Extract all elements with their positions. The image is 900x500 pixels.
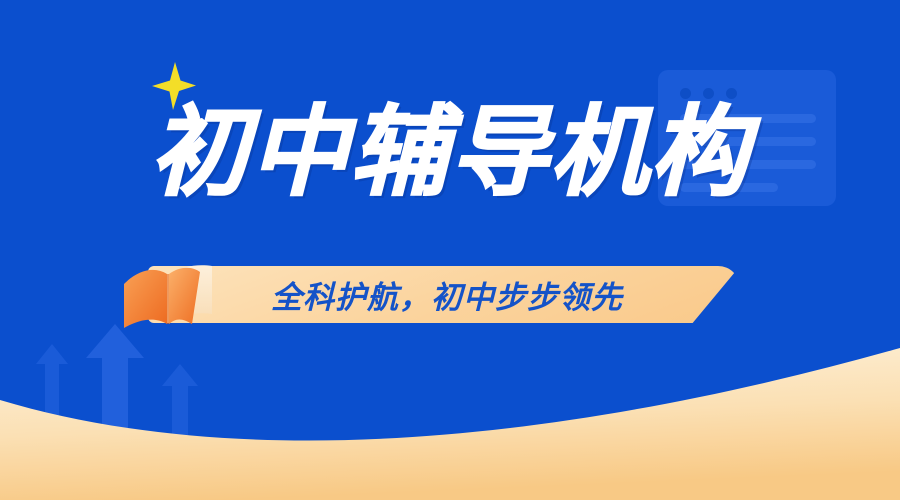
subtitle-ribbon: 全科护航，初中步步领先 (148, 266, 740, 323)
open-book-icon (120, 262, 216, 330)
page-title: 初中辅导机构 (0, 104, 900, 202)
subtitle-text: 全科护航，初中步步领先 (148, 266, 740, 323)
promo-banner: 初中辅导机构 全科护航，初中步步领先 (0, 0, 900, 500)
bottom-wave-shape (0, 340, 900, 500)
